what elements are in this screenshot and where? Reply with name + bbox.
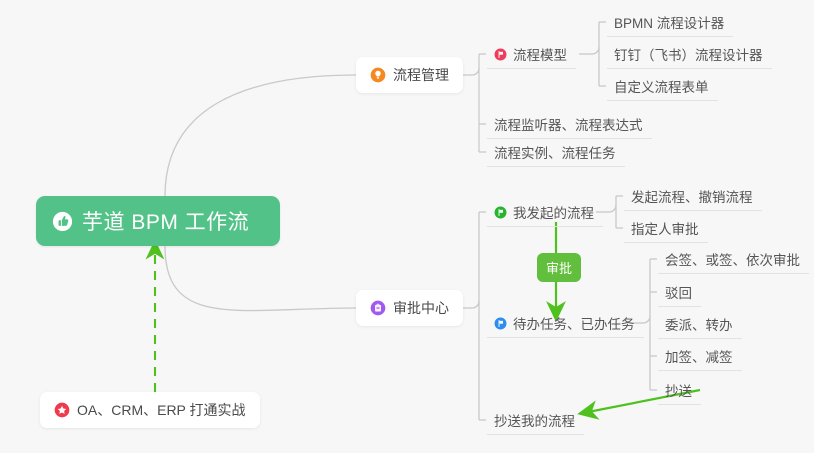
leaf-label-cc: 抄送 xyxy=(665,380,692,400)
leaf-label-bpmn-designer: BPMN 流程设计器 xyxy=(614,12,724,32)
flag-icon xyxy=(494,48,507,61)
leaf-custom-form[interactable]: 自定义流程表单 xyxy=(607,72,718,101)
leaf-label-process-model: 流程模型 xyxy=(513,44,567,64)
branch-label-process-management: 流程管理 xyxy=(393,65,449,85)
clipboard-icon xyxy=(370,300,386,316)
leaf-label-add-remove-sign: 加签、减签 xyxy=(665,346,733,366)
star-icon xyxy=(54,402,70,418)
leaf-reject[interactable]: 驳回 xyxy=(658,278,701,307)
thumbs-up-icon xyxy=(52,211,73,232)
leaf-add-remove-sign[interactable]: 加签、减签 xyxy=(658,342,742,371)
leaf-label-custom-form: 自定义流程表单 xyxy=(614,76,709,96)
leaf-assignee-approval[interactable]: 指定人审批 xyxy=(624,214,708,243)
leaf-label-start-cancel-process: 发起流程、撤销流程 xyxy=(631,186,753,206)
leaf-label-process-instance: 流程实例、流程任务 xyxy=(494,142,616,162)
leaf-my-initiated[interactable]: 我发起的流程 xyxy=(487,198,603,227)
root-label: 芋道 BPM 工作流 xyxy=(82,206,249,236)
branch-card-approval-center[interactable]: 审批中心 xyxy=(356,290,463,326)
flag-icon xyxy=(494,317,507,330)
leaf-process-model[interactable]: 流程模型 xyxy=(487,40,576,69)
branch-label-approval-center: 审批中心 xyxy=(393,298,449,318)
leaf-bpmn-designer[interactable]: BPMN 流程设计器 xyxy=(607,8,733,37)
leaf-label-process-listener: 流程监听器、流程表达式 xyxy=(494,114,643,134)
leaf-label-multi-sign: 会签、或签、依次审批 xyxy=(665,249,800,269)
leaf-label-reject: 驳回 xyxy=(665,282,692,302)
callout-integration-note[interactable]: OA、CRM、ERP 打通实战 xyxy=(40,392,260,428)
leaf-label-assignee-approval: 指定人审批 xyxy=(631,218,699,238)
flag-icon xyxy=(494,206,507,219)
lightbulb-icon xyxy=(370,67,386,83)
leaf-label-my-initiated: 我发起的流程 xyxy=(513,202,594,222)
leaf-start-cancel-process[interactable]: 发起流程、撤销流程 xyxy=(624,182,762,211)
branch-card-process-management[interactable]: 流程管理 xyxy=(356,57,463,93)
leaf-label-dingtalk-designer: 钉钉（飞书）流程设计器 xyxy=(614,44,763,64)
leaf-multi-sign[interactable]: 会签、或签、依次审批 xyxy=(658,245,809,274)
leaf-label-my-tasks: 待办任务、已办任务 xyxy=(513,313,635,333)
approval-tag-label: 审批 xyxy=(546,258,572,277)
leaf-cc-to-me[interactable]: 抄送我的流程 xyxy=(487,406,584,435)
leaf-process-instance[interactable]: 流程实例、流程任务 xyxy=(487,138,625,167)
leaf-label-cc-to-me: 抄送我的流程 xyxy=(494,410,575,430)
root-node[interactable]: 芋道 BPM 工作流 xyxy=(36,196,280,246)
leaf-delegate-transfer[interactable]: 委派、转办 xyxy=(658,310,742,339)
leaf-my-tasks[interactable]: 待办任务、已办任务 xyxy=(487,309,644,338)
leaf-dingtalk-designer[interactable]: 钉钉（飞书）流程设计器 xyxy=(607,40,772,69)
leaf-label-delegate-transfer: 委派、转办 xyxy=(665,314,733,334)
callout-label-integration-note: OA、CRM、ERP 打通实战 xyxy=(77,400,246,420)
leaf-cc[interactable]: 抄送 xyxy=(658,376,701,405)
leaf-process-listener[interactable]: 流程监听器、流程表达式 xyxy=(487,110,652,139)
mindmap-canvas: 芋道 BPM 工作流 流程管理 审批中心 xyxy=(0,0,814,453)
approval-tag[interactable]: 审批 xyxy=(537,253,581,282)
